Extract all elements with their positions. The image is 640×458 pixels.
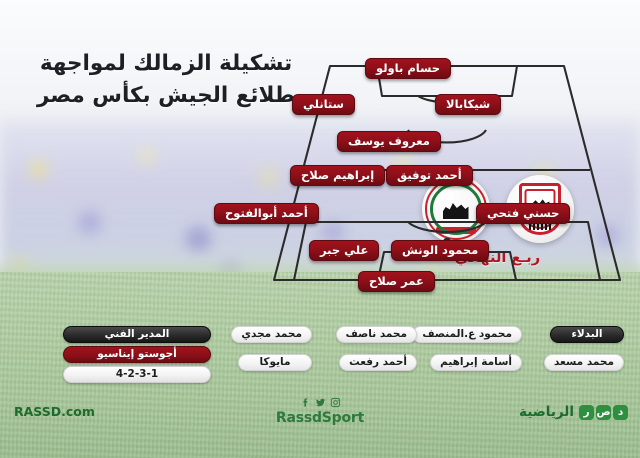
player-badge[interactable]: معروف يوسف — [337, 131, 441, 152]
substitute-pill[interactable]: محمود ع.المنصف — [412, 326, 522, 343]
player-badge[interactable]: عمر صلاح — [358, 271, 435, 292]
twitter-icon[interactable] — [315, 397, 326, 408]
player-badge[interactable]: إبراهيم صلاح — [290, 165, 385, 186]
substitute-pill[interactable]: أحمد رفعت — [339, 354, 417, 371]
substitute-pill[interactable]: محمد مسعد — [544, 354, 624, 371]
coach-name: أجوستو إيناسيو — [63, 346, 211, 363]
rassd-logo-letter: د — [613, 405, 628, 420]
player-badge[interactable]: محمود الونش — [391, 240, 489, 261]
substitute-pill[interactable]: أسامة إبراهيم — [430, 354, 522, 371]
player-badge[interactable]: حسام باولو — [365, 58, 451, 79]
player-badge[interactable]: حسني فتحي — [476, 203, 570, 224]
lineup-graphic: تشكيلة الزمالك لمواجهة طلائع الجيش بكأس … — [0, 0, 640, 458]
substitute-pill[interactable]: محمد ناصف — [336, 326, 417, 343]
player-badge[interactable]: ستانلي — [292, 94, 355, 115]
rassd-logo-letter: ص — [596, 405, 611, 420]
substitutes-grid: البدلاء محمد مسعدمحمود ع.المنصفأسامة إبر… — [210, 326, 630, 382]
rassd-logo[interactable]: دصر الرياضية — [519, 404, 628, 420]
substitutes-header: البدلاء — [550, 326, 624, 343]
rassd-logo-letter: ر — [579, 405, 594, 420]
player-badge[interactable]: أحمد توفيق — [386, 165, 473, 186]
substitute-pill[interactable]: محمد مجدي — [231, 326, 312, 343]
substitute-pill[interactable]: مايوكا — [238, 354, 312, 371]
player-badge[interactable]: شيكابالا — [435, 94, 501, 115]
formation-label: 4-2-3-1 — [63, 366, 211, 383]
player-badge[interactable]: أحمد أبوالفتوح — [214, 203, 319, 224]
coach-role-label: المدير الفني — [63, 326, 211, 343]
title-line-1: تشكيلة الزمالك لمواجهة — [40, 51, 292, 76]
rassd-logo-word: الرياضية — [519, 404, 574, 420]
rassd-logo-mark: دصر — [579, 405, 628, 420]
coach-block: المدير الفني أجوستو إيناسيو 4-2-3-1 — [63, 326, 211, 386]
player-badge[interactable]: علي جبر — [309, 240, 379, 261]
instagram-icon[interactable] — [330, 397, 341, 408]
facebook-icon[interactable] — [300, 397, 311, 408]
